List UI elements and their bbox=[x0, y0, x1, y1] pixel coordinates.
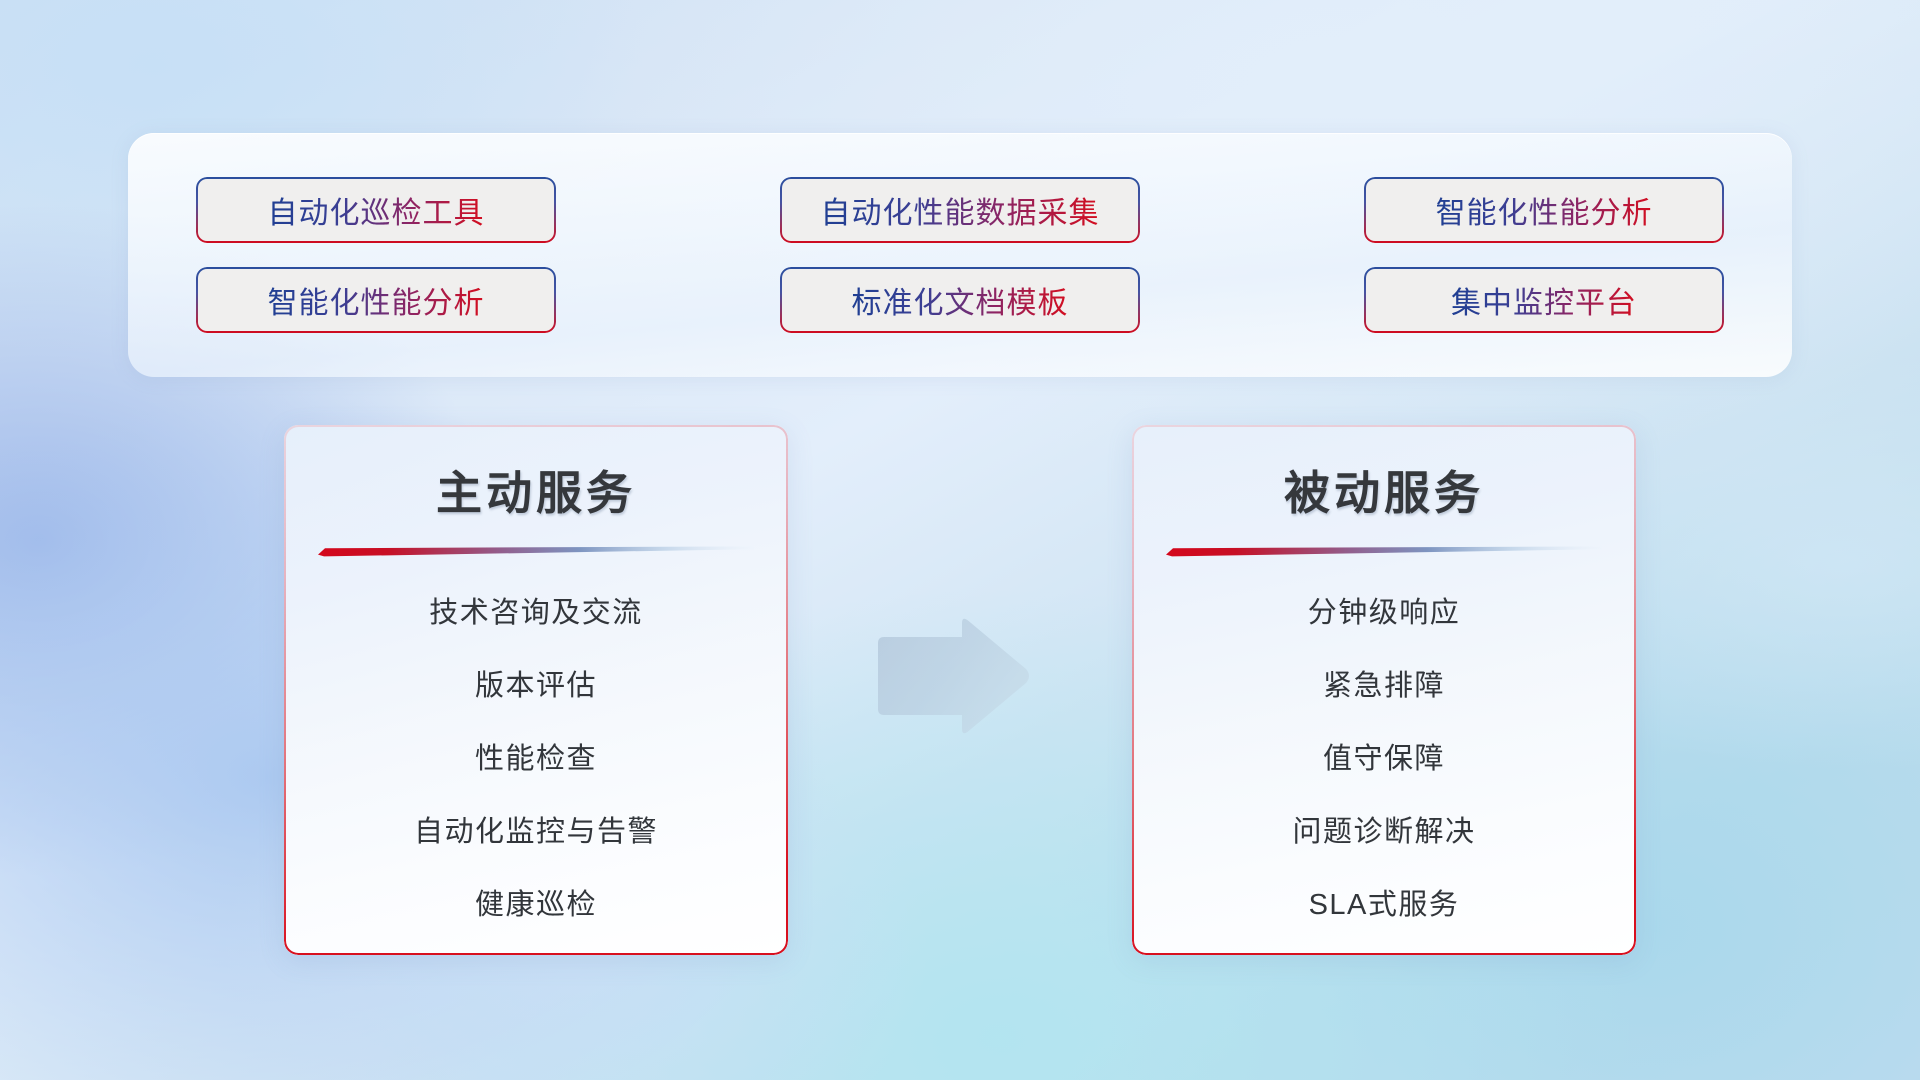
service-item-list: 分钟级响应 紧急排障 值守保障 问题诊断解决 SLA式服务 bbox=[1132, 589, 1636, 923]
service-list-item: 健康巡检 bbox=[475, 881, 597, 923]
service-card-proactive: 主动服务 技术咨询及交流 版本评估 性能检查 bbox=[284, 425, 788, 955]
arrow-right-icon bbox=[876, 617, 1032, 735]
capability-tag-row-2: 智能化性能分析 标准化文档模板 集中监控平台 bbox=[196, 267, 1724, 333]
service-list-item: 版本评估 bbox=[475, 662, 597, 704]
service-item-list: 技术咨询及交流 版本评估 性能检查 自动化监控与告警 健康巡检 bbox=[284, 589, 788, 923]
capability-tag[interactable]: 标准化文档模板 bbox=[780, 267, 1140, 333]
capability-tag-label: 自动化巡检工具 bbox=[268, 188, 485, 232]
title-divider bbox=[1166, 545, 1602, 559]
capability-tag-row-1: 自动化巡检工具 自动化性能数据采集 智能化性能分析 bbox=[196, 177, 1724, 243]
title-divider bbox=[318, 545, 754, 559]
service-list-item: 问题诊断解决 bbox=[1292, 808, 1475, 850]
service-card-title: 主动服务 bbox=[436, 457, 636, 523]
service-list-item: 性能检查 bbox=[475, 735, 597, 777]
service-list-item: SLA式服务 bbox=[1309, 881, 1460, 923]
service-list-item: 值守保障 bbox=[1323, 735, 1445, 777]
service-list-item: 技术咨询及交流 bbox=[429, 589, 643, 631]
service-card-title: 被动服务 bbox=[1284, 457, 1484, 523]
capability-tag-label: 自动化性能数据采集 bbox=[821, 188, 1100, 232]
capability-tag-label: 标准化文档模板 bbox=[852, 278, 1069, 322]
capability-tag-label: 智能化性能分析 bbox=[1436, 188, 1653, 232]
capability-tag-label: 集中监控平台 bbox=[1451, 278, 1637, 322]
capability-tag-label: 智能化性能分析 bbox=[268, 278, 485, 322]
service-list-item: 紧急排障 bbox=[1323, 662, 1445, 704]
service-card-reactive: 被动服务 分钟级响应 紧急排障 值守保障 bbox=[1132, 425, 1636, 955]
service-list-item: 自动化监控与告警 bbox=[414, 808, 658, 850]
capability-tag[interactable]: 自动化性能数据采集 bbox=[780, 177, 1140, 243]
capability-tag[interactable]: 智能化性能分析 bbox=[1364, 177, 1724, 243]
capability-panel: 自动化巡检工具 自动化性能数据采集 智能化性能分析 智能化性能分析 标准化文档模… bbox=[128, 133, 1792, 377]
capability-tag[interactable]: 智能化性能分析 bbox=[196, 267, 556, 333]
capability-tag[interactable]: 自动化巡检工具 bbox=[196, 177, 556, 243]
service-list-item: 分钟级响应 bbox=[1308, 589, 1461, 631]
capability-tag[interactable]: 集中监控平台 bbox=[1364, 267, 1724, 333]
